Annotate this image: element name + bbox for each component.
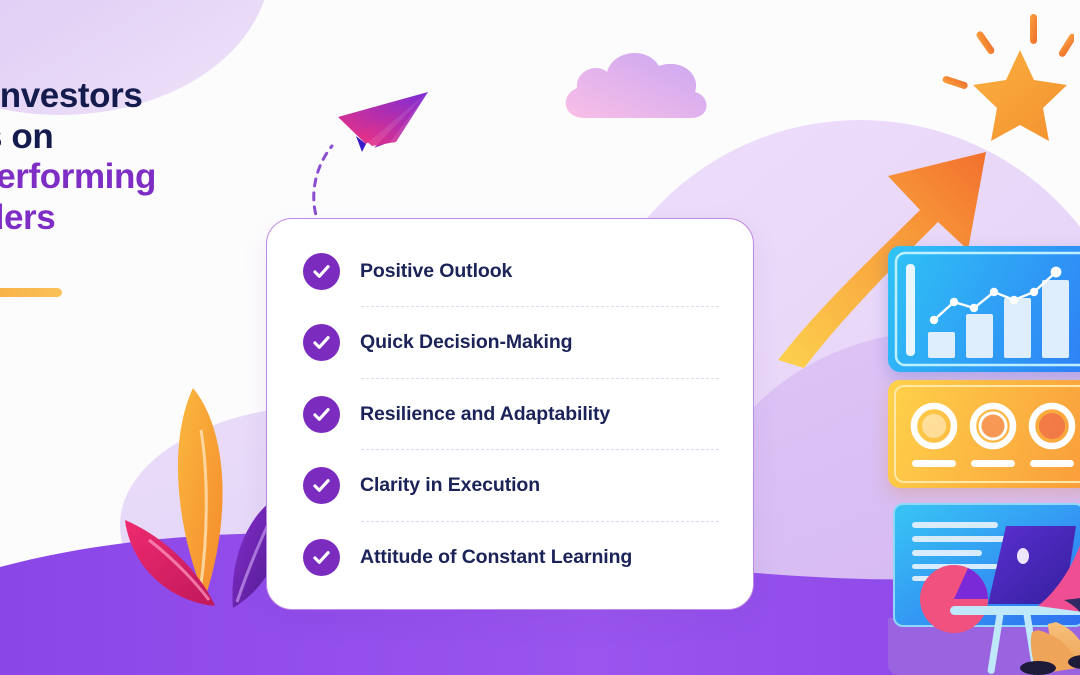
list-separator <box>361 378 719 379</box>
list-item[interactable]: Resilience and Adaptability <box>303 388 723 440</box>
list-item[interactable]: Clarity in Execution <box>303 460 723 512</box>
progress-ring-1 <box>914 406 954 446</box>
list-item[interactable]: Attitude of Constant Learning <box>303 531 723 583</box>
cloud-shape <box>555 38 715 130</box>
progress-ring-3 <box>1032 406 1072 446</box>
list-item-label: Positive Outlook <box>360 260 512 283</box>
check-circle-icon <box>303 396 340 433</box>
headline-underline <box>0 288 62 297</box>
bar-line-chart-panel <box>888 246 1080 372</box>
list-separator <box>361 306 719 307</box>
list-item[interactable]: Positive Outlook <box>303 245 723 297</box>
headline-line-3: -Performing <box>0 157 322 198</box>
list-item-label: Clarity in Execution <box>360 474 540 497</box>
list-item-label: Quick Decision-Making <box>360 331 572 354</box>
list-item-label: Resilience and Adaptability <box>360 403 610 426</box>
check-circle-icon <box>303 467 340 504</box>
check-circle-icon <box>303 324 340 361</box>
illustration-stack <box>888 246 1080 675</box>
infographic-canvas: y Investors us on -Performing nders Posi… <box>0 0 1080 675</box>
person-at-laptop-panel <box>888 496 1080 675</box>
checklist-card: Positive Outlook Quick Decision-Making R… <box>266 218 754 610</box>
list-separator <box>361 521 719 522</box>
paper-plane-icon <box>300 82 450 232</box>
headline-line-1: y Investors <box>0 76 322 117</box>
list-item-label: Attitude of Constant Learning <box>360 546 632 569</box>
headline-line-2: us on <box>0 117 322 158</box>
list-separator <box>361 449 719 450</box>
check-circle-icon <box>303 253 340 290</box>
check-circle-icon <box>303 539 340 576</box>
progress-ring-2 <box>973 406 1013 446</box>
progress-rings-panel <box>888 380 1080 488</box>
pie-chart <box>920 565 988 633</box>
page-title: y Investors us on -Performing nders <box>0 76 322 238</box>
list-item[interactable]: Quick Decision-Making <box>303 317 723 369</box>
